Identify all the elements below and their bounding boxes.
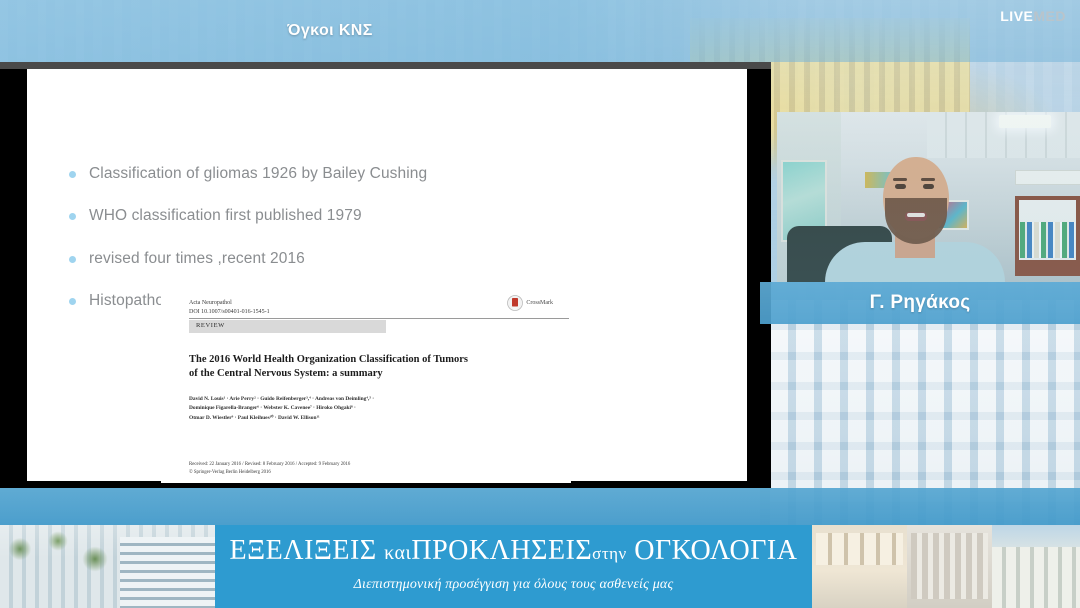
banner-title: ΕΞΕΛΙΞΕΙΣ καιΠΡΟΚΛΗΣΕΙΣστην ΟΓΚΟΛΟΓΙΑ: [215, 535, 812, 567]
photo-institute-building: [812, 525, 907, 608]
list-item: revised four times ,recent 2016: [69, 249, 709, 268]
photo-hospital-blocks: [992, 547, 1080, 608]
conference-banner: ΕΞΕΛΙΞΕΙΣ καιΠΡΟΚΛΗΣΕΙΣστην ΟΓΚΟΛΟΓΙΑ Δι…: [215, 525, 812, 608]
paper-authors-line-2: Dominique Figarella-Branger⁶ · Webster K…: [189, 404, 534, 413]
banner-title-part-3: ΠΡΟΚΛΗΣΕΙΣ: [411, 535, 592, 566]
list-item: Classification of gliomas 1926 by Bailey…: [69, 164, 709, 183]
banner-title-part-1: ΕΞΕΛΙΞΕΙΣ: [230, 535, 377, 566]
slide-frame-topbar: [0, 62, 771, 69]
paper-section-label: REVIEW: [196, 322, 225, 329]
bullet-dot-icon: [69, 213, 76, 220]
banner-subtitle: Διεπιστημονική προσέγγιση για όλους τους…: [215, 577, 812, 593]
photo-relief-figures: [911, 533, 988, 599]
bullet-dot-icon: [69, 298, 76, 305]
bullet-dot-icon: [69, 256, 76, 263]
session-title: Όγκοι ΚΝΣ: [0, 0, 660, 62]
photo-marble-relief: [907, 525, 992, 608]
paper-received-dates: Received: 22 January 2016 / Revised: 8 F…: [189, 461, 350, 469]
paper-title: The 2016 World Health Organization Class…: [189, 353, 549, 381]
photo-aerial-tower: [120, 537, 215, 608]
top-header-bar: Όγκοι ΚΝΣ LIVEMED: [0, 0, 1080, 62]
speaker-name: Γ. Ρηγάκος: [870, 292, 971, 314]
paper-title-line-2: of the Central Nervous System: a summary: [189, 367, 549, 381]
photo-aerial-hospital: [0, 525, 215, 608]
livemed-logo-med: MED: [1033, 8, 1066, 24]
livemed-logo-live: LIVE: [1000, 8, 1033, 24]
paper-author-list: David N. Louis¹ · Arie Perry² · Guido Re…: [189, 395, 534, 423]
crossmark-icon: [507, 295, 523, 311]
slide-canvas: Classification of gliomas 1926 by Bailey…: [27, 69, 747, 481]
paper-title-line-1: The 2016 World Health Organization Class…: [189, 353, 549, 367]
paper-footer: Received: 22 January 2016 / Revised: 8 F…: [189, 461, 350, 477]
banner-title-part-5: ΟΓΚΟΛΟΓΙΑ: [634, 535, 797, 566]
photo-aerial-trees: [0, 525, 120, 585]
livemed-logo: LIVEMED: [1000, 8, 1066, 24]
list-item: WHO classification first published 1979: [69, 206, 709, 225]
paper-authors-line-3: Otmar D. Wiestler⁹ · Paul Kleihues¹⁰ · D…: [189, 414, 534, 423]
paper-journal-name: Acta Neuropathol: [189, 299, 270, 308]
broadcast-stage: Όγκοι ΚΝΣ LIVEMED Classification of glio…: [0, 0, 1080, 608]
speaker-video-tile[interactable]: [777, 112, 1080, 282]
presentation-slide-frame[interactable]: Classification of gliomas 1926 by Bailey…: [0, 62, 771, 488]
bullet-text: WHO classification first published 1979: [89, 206, 362, 225]
paper-doi: DOI 10.1007/s00401-016-1545-1: [189, 308, 270, 317]
crossmark-label: CrossMark: [526, 300, 553, 306]
embedded-paper-screenshot: Acta Neuropathol DOI 10.1007/s00401-016-…: [161, 291, 571, 483]
bullet-dot-icon: [69, 171, 76, 178]
banner-title-part-2: και: [384, 542, 411, 564]
photo-hospital-complex: [992, 525, 1080, 608]
paper-copyright: © Springer-Verlag Berlin Heidelberg 2016: [189, 469, 350, 477]
paper-journal-info: Acta Neuropathol DOI 10.1007/s00401-016-…: [189, 299, 270, 317]
paper-authors-line-1: David N. Louis¹ · Arie Perry² · Guido Re…: [189, 395, 534, 404]
photo-building-arches: [816, 533, 903, 565]
speaker-name-band: Γ. Ρηγάκος: [760, 282, 1080, 324]
bullet-text: Classification of gliomas 1926 by Bailey…: [89, 164, 427, 183]
banner-title-part-4: στην: [592, 544, 627, 563]
bullet-text: revised four times ,recent 2016: [89, 249, 305, 268]
video-overlay-tint: [777, 112, 1080, 282]
paper-header-rule: [189, 318, 569, 319]
crossmark-badge: CrossMark: [507, 295, 553, 311]
